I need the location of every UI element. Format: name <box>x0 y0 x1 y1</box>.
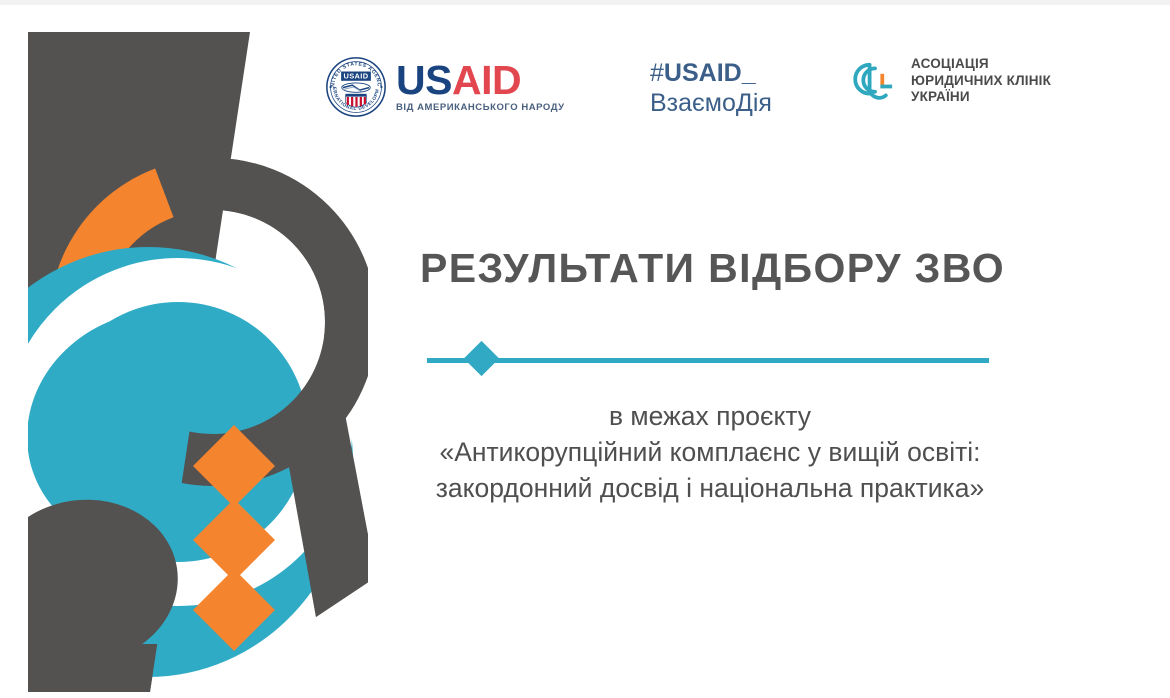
usaid-wordmark-aid: AID <box>452 57 521 103</box>
subtitle-line-3: закордонний досвід і національна практик… <box>360 470 1060 506</box>
logo-row: UNITED STATES AGENCY INTERNATIONAL DEVEL… <box>325 52 1125 132</box>
vzaemodiya-hashtag: #USAID_ <box>650 60 772 88</box>
association-name-line2: ЮРИДИЧНИХ КЛІНІК <box>911 73 1051 90</box>
association-a-monogram-icon <box>848 54 902 108</box>
usaid-tagline: ВІД АМЕРИКАНСЬКОГО НАРОДУ <box>396 102 565 113</box>
association-name-line1: АСОЦІАЦІЯ <box>911 56 1051 73</box>
usaid-wordmark-group: USAID ВІД АМЕРИКАНСЬКОГО НАРОДУ <box>396 61 565 114</box>
vzaemodiya-name: ВзаємоДія <box>650 89 772 118</box>
diamond-icon <box>464 341 499 376</box>
hash-symbol: # <box>650 59 664 87</box>
usaid-wordmark: USAID <box>396 61 565 100</box>
orange-diamonds <box>193 425 275 651</box>
slide-subtitle: в межах проєкту «Антикорупційний комплає… <box>360 398 1060 506</box>
association-logo: АСОЦІАЦІЯ ЮРИДИЧНИХ КЛІНІК УКРАЇНИ <box>848 54 1051 108</box>
svg-text:USAID: USAID <box>343 72 368 81</box>
subtitle-line-1: в межах проєкту <box>360 398 1060 434</box>
vzaemodiya-usaid-word: USAID_ <box>664 59 756 87</box>
usaid-seal-icon: UNITED STATES AGENCY INTERNATIONAL DEVEL… <box>325 56 387 118</box>
usaid-logo: UNITED STATES AGENCY INTERNATIONAL DEVEL… <box>325 56 565 118</box>
slide-canvas: UNITED STATES AGENCY INTERNATIONAL DEVEL… <box>0 0 1170 698</box>
q-monogram-decorative-graphic <box>28 32 368 692</box>
usaid-vzaemodiya-logo: #USAID_ ВзаємоДія <box>650 60 772 117</box>
top-edge-strip <box>0 0 1170 5</box>
association-name: АСОЦІАЦІЯ ЮРИДИЧНИХ КЛІНІК УКРАЇНИ <box>911 56 1051 106</box>
title-divider <box>427 344 989 378</box>
slide-title: РЕЗУЛЬТАТИ ВІДБОРУ ЗВО <box>385 245 1040 292</box>
divider-line <box>427 358 989 363</box>
association-name-line3: УКРАЇНИ <box>911 89 1051 106</box>
subtitle-line-2: «Антикорупційний комплаєнс у вищій освіт… <box>360 434 1060 470</box>
usaid-wordmark-us: US <box>396 57 452 103</box>
